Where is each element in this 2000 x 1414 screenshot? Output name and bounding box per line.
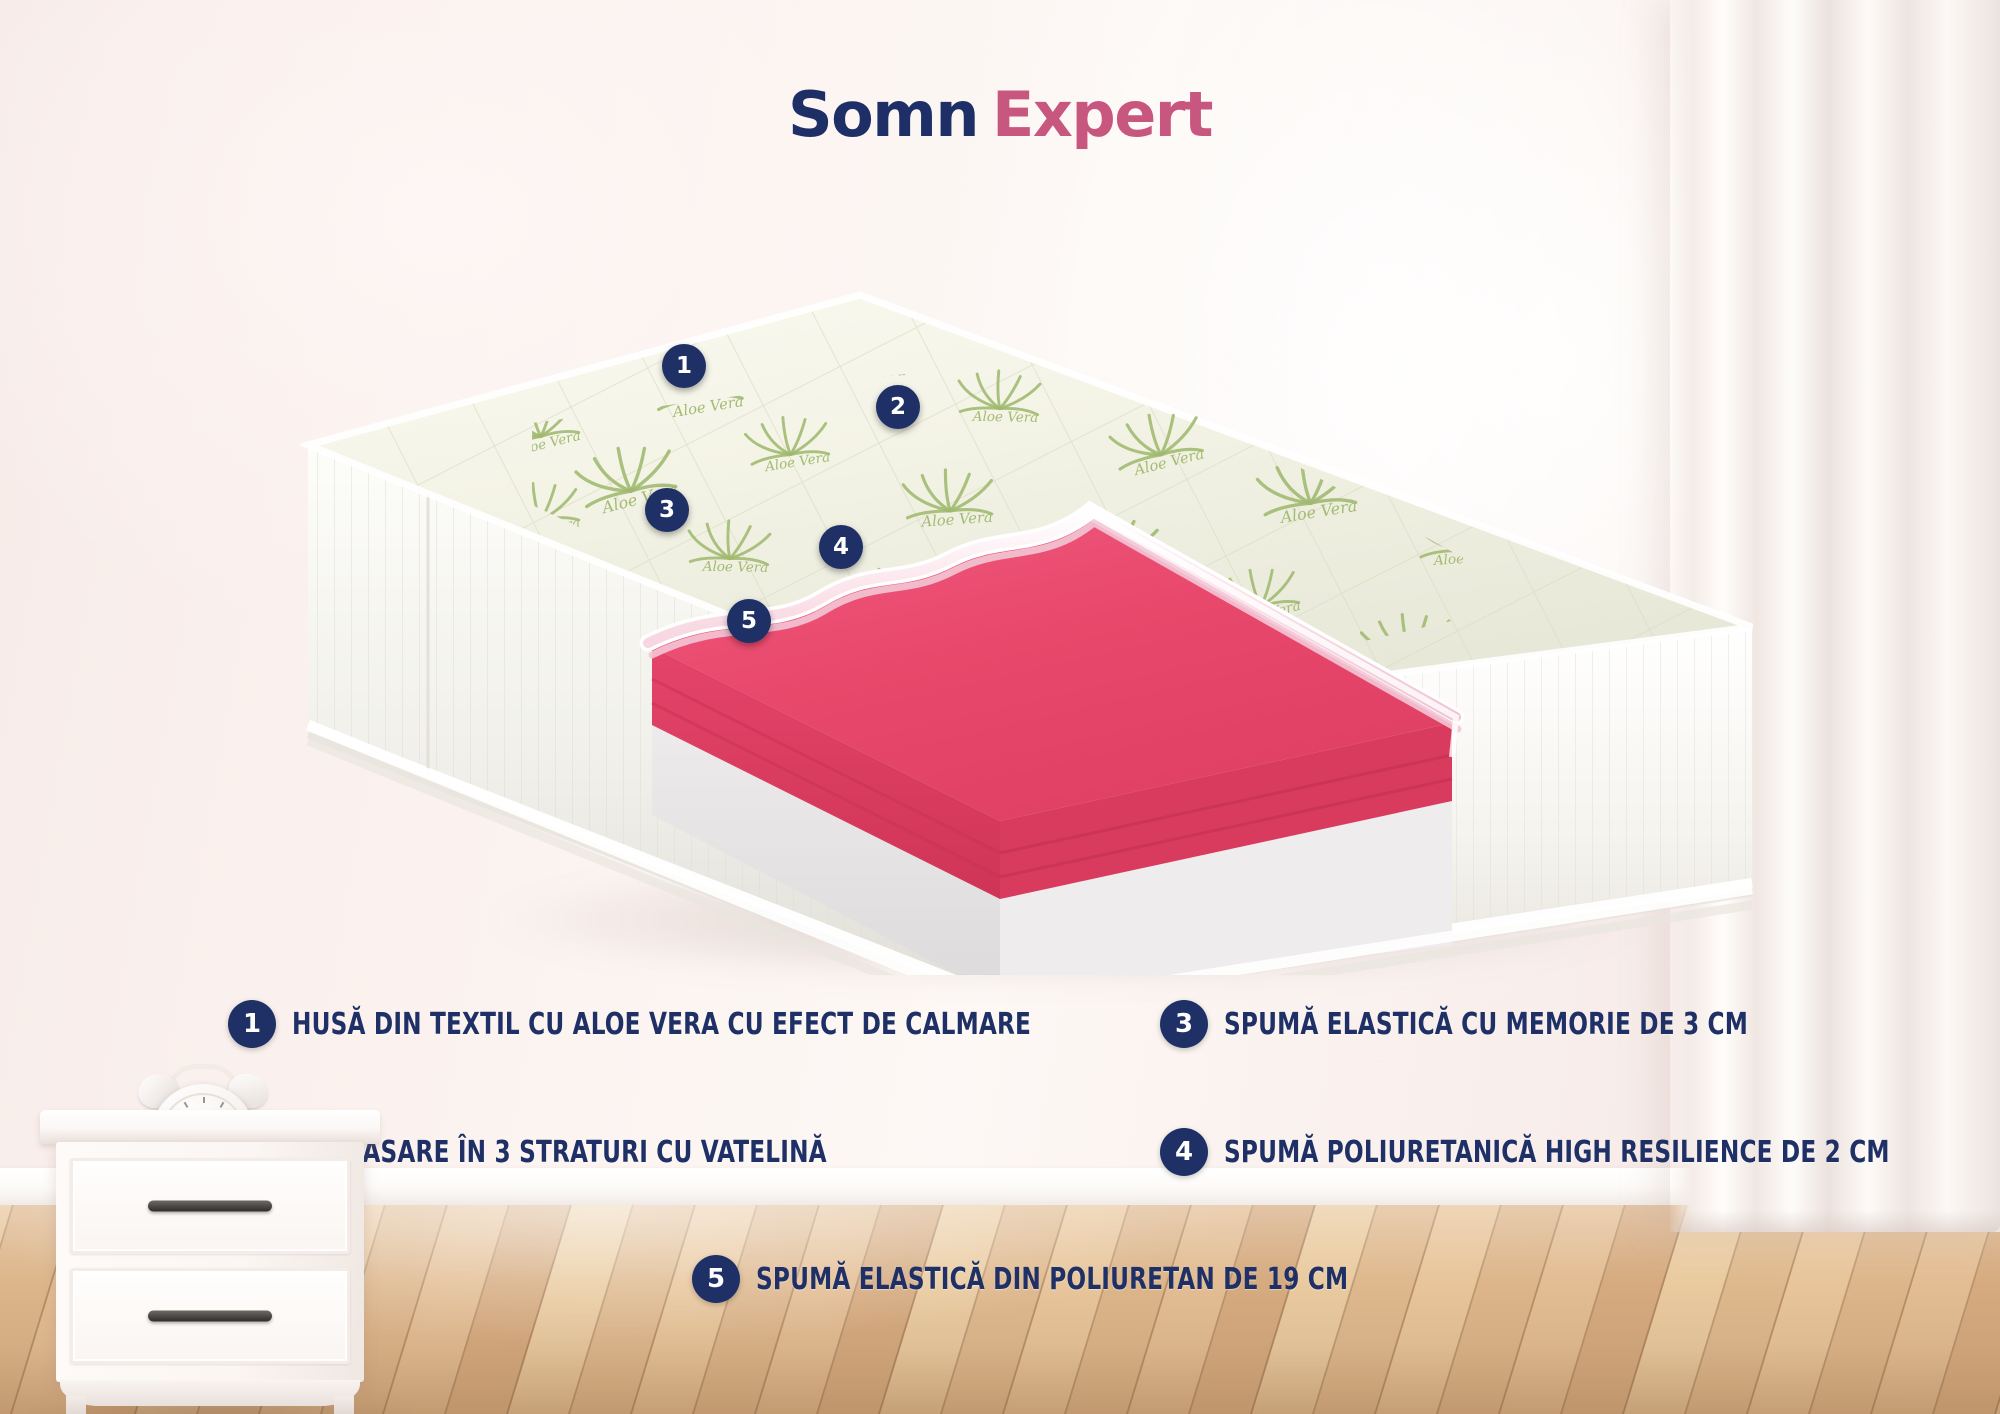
nightstand-leg-left <box>66 1396 86 1414</box>
nightstand-top <box>40 1110 380 1144</box>
nightstand-drawer-bottom[interactable] <box>70 1268 350 1364</box>
legend-label-1: HUSĂ DIN TEXTIL CU ALOE VERA CU EFECT DE… <box>292 1007 1031 1042</box>
legend-badge-3: 3 <box>1160 1000 1208 1048</box>
brand-logo-expert: Expert <box>992 78 1212 151</box>
mattress-callout-5[interactable]: 5 <box>727 599 771 643</box>
legend-badge-4: 4 <box>1160 1128 1208 1176</box>
legend-badge-5: 5 <box>692 1255 740 1303</box>
drawer-handle-icon[interactable] <box>148 1201 272 1212</box>
aloe-vera-label: Aloe Vera <box>971 409 1039 426</box>
brand-logo: SomnExpert <box>0 78 2000 151</box>
nightstand-leg-right <box>334 1396 354 1414</box>
mattress-svg: Aloe VeraAloe VeraAloe VeraAloe VeraAloe… <box>300 255 1760 975</box>
mattress-callout-4[interactable]: 4 <box>819 525 863 569</box>
legend-label-3: SPUMĂ ELASTICĂ CU MEMORIE DE 3 CM <box>1224 1007 1748 1042</box>
nightstand-drawer-top[interactable] <box>70 1158 350 1254</box>
clock-tick <box>220 1102 225 1108</box>
legend-item-1[interactable]: 1HUSĂ DIN TEXTIL CU ALOE VERA CU EFECT D… <box>228 1000 1151 1048</box>
legend-label-4: SPUMĂ POLIURETANICĂ HIGH RESILIENCE DE 2… <box>1224 1135 1890 1170</box>
mattress-callout-2[interactable]: 2 <box>876 385 920 429</box>
nightstand-apron <box>60 1380 360 1406</box>
nightstand-body <box>56 1142 364 1382</box>
legend-item-4[interactable]: 4SPUMĂ POLIURETANICĂ HIGH RESILIENCE DE … <box>1160 1128 1998 1176</box>
mattress-callout-1[interactable]: 1 <box>662 344 706 388</box>
mattress-cutaway-illustration: Aloe VeraAloe VeraAloe VeraAloe VeraAloe… <box>300 255 1760 975</box>
nightstand <box>30 1060 390 1414</box>
mattress-callout-3[interactable]: 3 <box>645 488 689 532</box>
legend-item-3[interactable]: 3SPUMĂ ELASTICĂ CU MEMORIE DE 3 CM <box>1160 1000 1833 1048</box>
aloe-vera-label: Aloe Vera <box>701 559 769 576</box>
curtain-hem <box>1670 1210 2000 1232</box>
clock-tick <box>184 1102 189 1108</box>
brand-logo-somn: Somn <box>788 78 978 151</box>
clock-tick <box>203 1097 205 1103</box>
legend-item-5[interactable]: 5SPUMĂ ELASTICĂ DIN POLIURETAN DE 19 CM <box>692 1255 1445 1303</box>
legend-label-5: SPUMĂ ELASTICĂ DIN POLIURETAN DE 19 CM <box>756 1262 1348 1297</box>
legend-badge-1: 1 <box>228 1000 276 1048</box>
drawer-handle-icon[interactable] <box>148 1311 272 1322</box>
